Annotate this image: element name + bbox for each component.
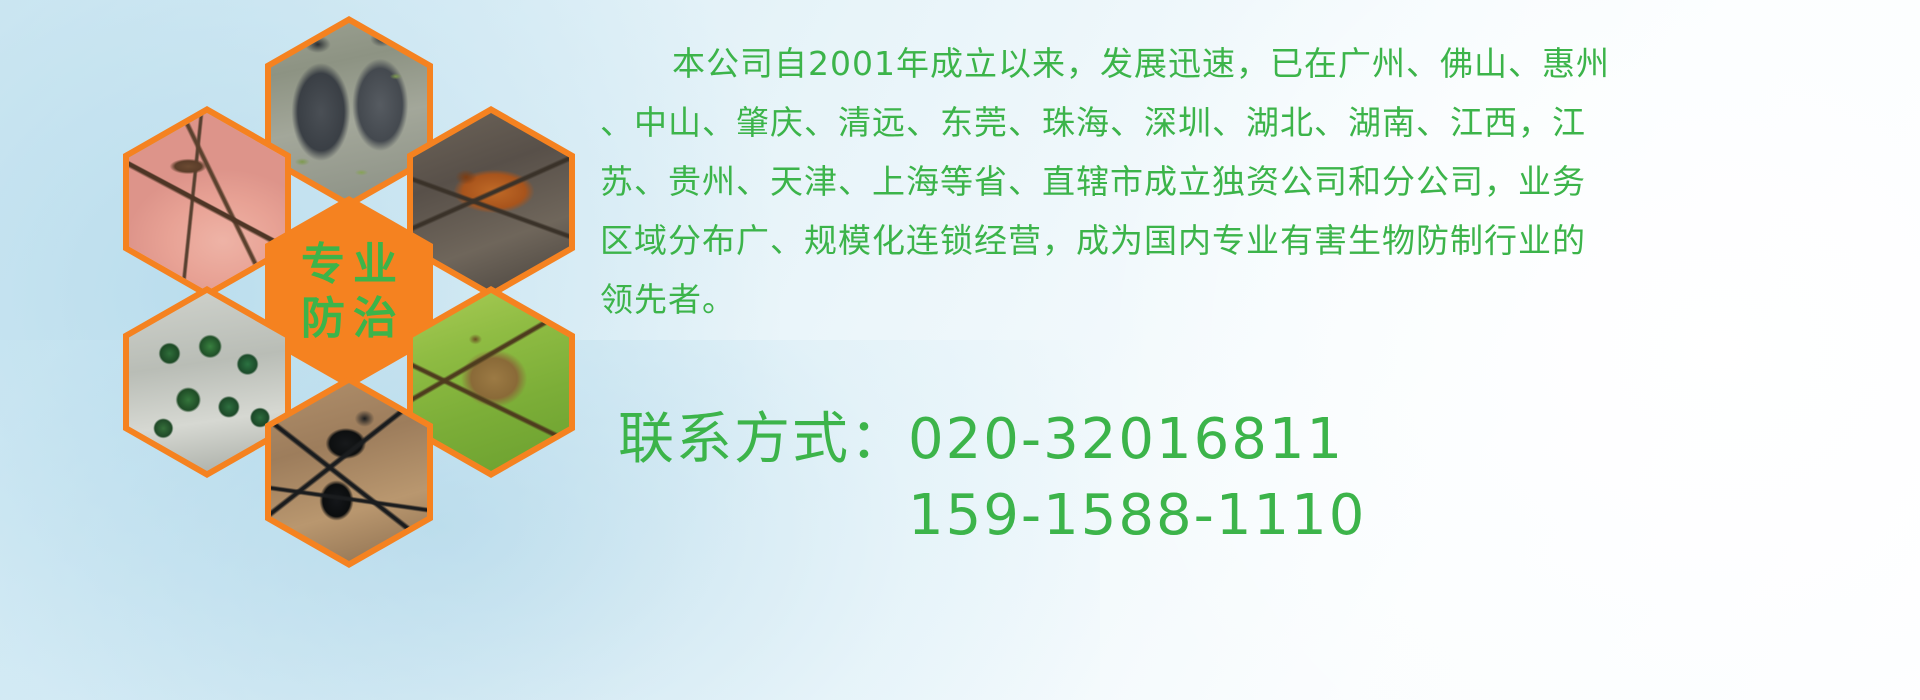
- description-line-3: 苏、贵州、天津、上海等省、直辖市成立独资公司和分公司，业务: [600, 152, 1900, 211]
- honeycomb-image-cluster: 专业 防治: [95, 10, 595, 570]
- flies-photo: [129, 293, 285, 471]
- mosquito-photo: [129, 113, 285, 291]
- rats-photo: [271, 23, 427, 201]
- company-description: 本公司自2001年成立以来，发展迅速，已在广州、佛山、惠州 、中山、肇庆、清远、…: [600, 34, 1900, 329]
- description-line-4: 区域分布广、规模化连锁经营，成为国内专业有害生物防制行业的: [600, 211, 1900, 270]
- ant-photo: [271, 383, 427, 561]
- stinkbug-photo: [413, 293, 569, 471]
- cockroach-photo: [413, 113, 569, 291]
- promotional-banner: 专业 防治 本公司自2001年成立以来，发展迅速，已在广州、佛山、惠州 、中山、…: [0, 0, 1920, 700]
- contact-phone-primary[interactable]: 联系方式：020-32016811: [618, 402, 1898, 478]
- contact-information: 联系方式：020-32016811 159-1588-1110: [618, 402, 1898, 554]
- description-line-1: 本公司自2001年成立以来，发展迅速，已在广州、佛山、惠州: [600, 34, 1900, 93]
- description-line-5: 领先者。: [600, 270, 1900, 329]
- description-line-2: 、中山、肇庆、清远、东莞、珠海、深圳、湖北、湖南、江西，江: [600, 93, 1900, 152]
- contact-phone-secondary[interactable]: 159-1588-1110: [618, 478, 1898, 554]
